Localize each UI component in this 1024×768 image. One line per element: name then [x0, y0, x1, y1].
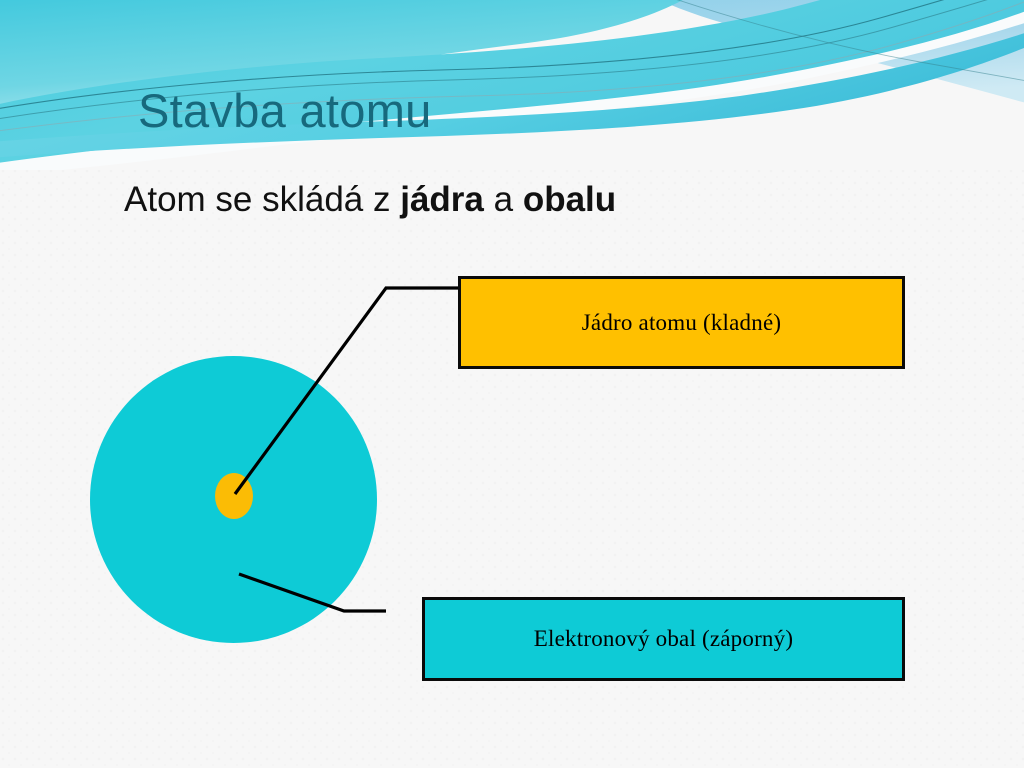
subtitle-text-part2: a: [484, 180, 523, 219]
slide-canvas: Stavba atomu Atom se skládá z jádra a ob…: [0, 0, 1024, 768]
nucleus-circle: [215, 473, 253, 519]
callout-box-nucleus[interactable]: Jádro atomu (kladné): [458, 276, 905, 369]
nucleus-leader-line: [235, 288, 458, 494]
electron-shell-circle: [90, 356, 377, 643]
shell-leader-line: [239, 574, 386, 611]
callout-nucleus-label: Jádro atomu (kladné): [582, 310, 781, 336]
slide-subtitle: Atom se skládá z jádra a obalu: [124, 180, 616, 220]
subtitle-bold-obalu: obalu: [523, 180, 616, 219]
callout-shell-label: Elektronový obal (záporný): [534, 626, 793, 652]
subtitle-bold-jadra: jádra: [400, 180, 484, 219]
subtitle-text-part1: Atom se skládá z: [124, 180, 400, 219]
callout-box-shell[interactable]: Elektronový obal (záporný): [422, 597, 905, 681]
slide-title: Stavba atomu: [138, 86, 432, 137]
